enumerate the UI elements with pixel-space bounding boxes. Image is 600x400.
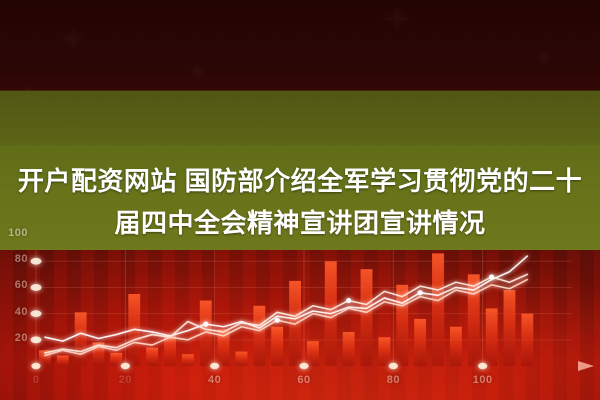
page-title-line-1: 开户配资网站 国防部介绍全军学习贯彻党的二十 [0,160,600,202]
x-tick-dot [31,363,40,369]
y-tick-dot [31,284,42,291]
chart-bar [504,290,516,366]
chart-bar [307,341,319,366]
chart-bar [378,337,390,366]
chart-bar [57,356,69,366]
chart-bar [432,253,444,366]
chart-line-vertex [275,318,280,323]
x-tick-dot [478,363,487,369]
chart-bar [253,306,265,366]
chart-line-vertex [203,322,208,327]
arrow-right-icon [578,361,594,371]
y-tick-dot [31,258,42,265]
chart-line-vertex [346,298,351,303]
y-tick-dot [31,336,42,343]
x-tick-dot [210,363,219,369]
x-tick-dot [299,363,308,369]
y-tick-dot [31,310,42,317]
x-tick-dot [121,363,130,369]
page-title-line-2: 届四中全会精神宣讲团宣讲情况 [0,202,600,244]
chart-bar [450,327,462,366]
chart-bar [521,314,533,366]
chart-bar [75,312,87,366]
chart-bar [182,354,194,366]
screenshot-root: 开户配资网站 国防部介绍全军学习贯彻党的二十 届四中全会精神宣讲团宣讲情况 20… [0,0,600,400]
chart-bar [236,352,248,366]
chart-bar [110,353,122,366]
chart-bar [486,308,498,366]
page-title: 开户配资网站 国防部介绍全军学习贯彻党的二十 届四中全会精神宣讲团宣讲情况 [0,160,600,244]
chart-line-vertex [489,274,494,279]
chart-bar [414,319,426,366]
chart-line-vertex [418,290,423,295]
chart-bar [361,269,373,366]
chart-bar [146,348,158,366]
chart-bar [343,332,355,366]
x-tick-dot [389,363,398,369]
chart-bar [271,327,283,366]
